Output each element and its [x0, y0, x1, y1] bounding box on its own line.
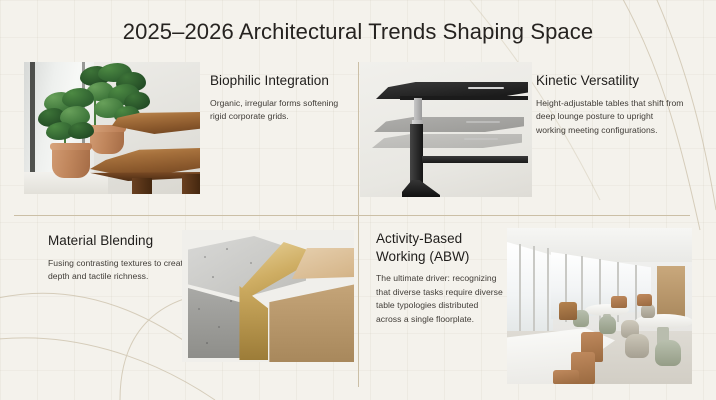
card-material-blending: Material Blending Fusing contrasting tex… [24, 228, 354, 368]
horizontal-divider [14, 215, 690, 216]
card-text-biophilic: Biophilic Integration Organic, irregular… [210, 72, 350, 124]
card-title-biophilic: Biophilic Integration [210, 72, 350, 90]
infographic-poster: 2025–2026 Architectural Trends Shaping S… [0, 0, 716, 400]
card-image-abw [507, 228, 692, 384]
card-kinetic-versatility: Kinetic Versatility Height-adjustable ta… [358, 62, 698, 202]
card-biophilic-integration: Biophilic Integration Organic, irregular… [24, 62, 344, 202]
card-body-material: Fusing contrasting textures to create de… [48, 257, 188, 284]
card-text-kinetic: Kinetic Versatility Height-adjustable ta… [536, 72, 684, 137]
card-title-abw: Activity-Based Working (ABW) [376, 230, 506, 265]
card-text-abw: Activity-Based Working (ABW) The ultimat… [376, 230, 506, 326]
card-image-biophilic [24, 62, 200, 194]
card-image-kinetic [360, 62, 532, 197]
card-body-biophilic: Organic, irregular forms softening rigid… [210, 97, 350, 124]
card-text-material: Material Blending Fusing contrasting tex… [48, 232, 188, 284]
card-image-material [182, 230, 354, 362]
card-title-material: Material Blending [48, 232, 188, 250]
card-body-abw: The ultimate driver: recognizing that di… [376, 272, 506, 326]
card-activity-based-working: Activity-Based Working (ABW) The ultimat… [358, 228, 694, 386]
card-body-kinetic: Height-adjustable tables that shift from… [536, 97, 684, 138]
page-title: 2025–2026 Architectural Trends Shaping S… [0, 19, 716, 45]
card-title-kinetic: Kinetic Versatility [536, 72, 684, 90]
